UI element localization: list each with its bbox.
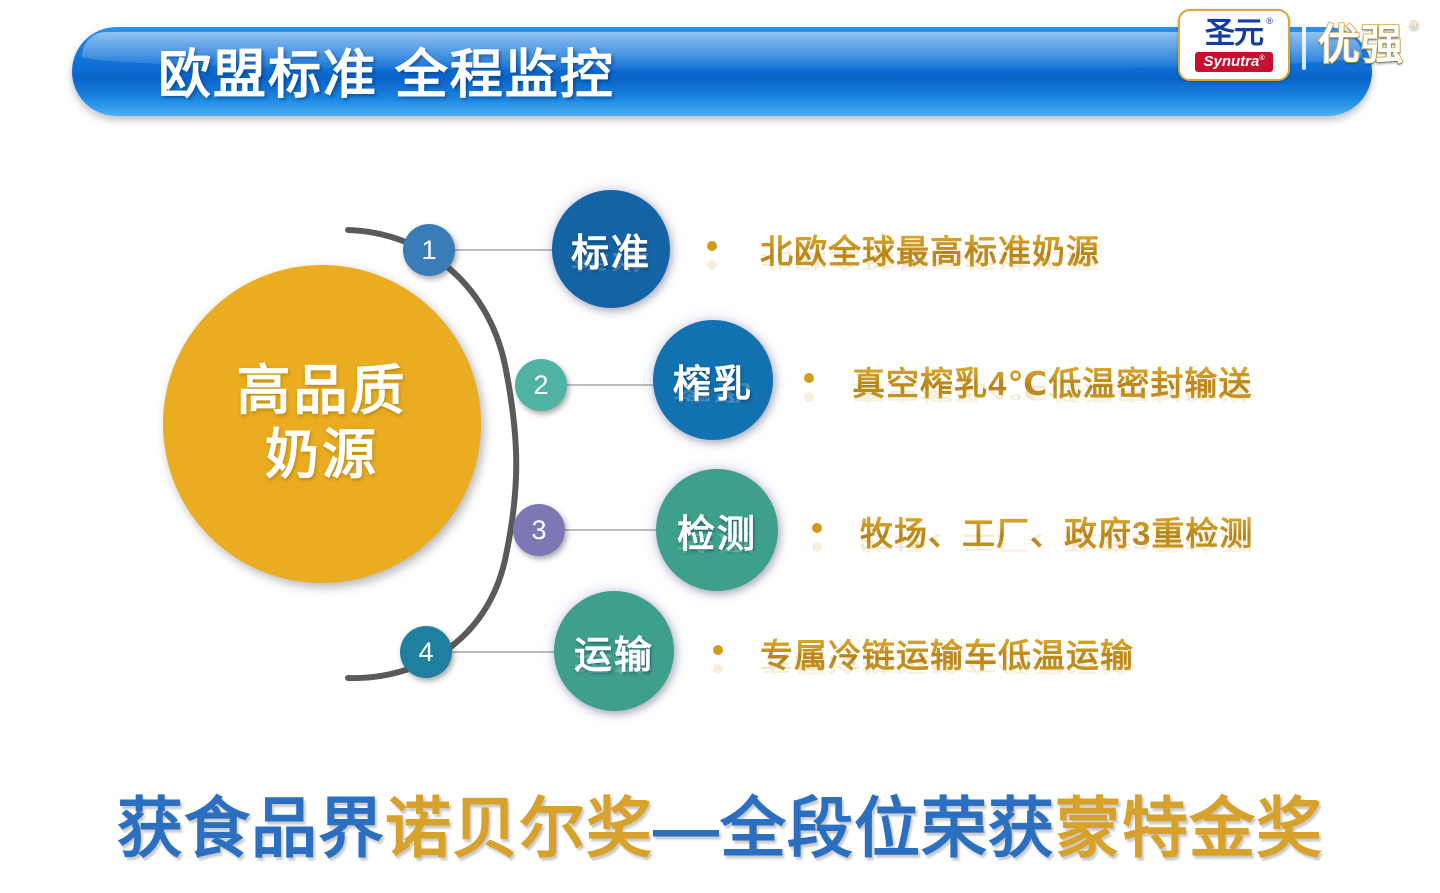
step-number-2[interactable]: 2: [515, 359, 567, 411]
step-description-1: 北欧全球最高标准奶源: [760, 225, 1100, 273]
stage-label-transport: 运输: [574, 624, 654, 679]
stage-label-milking: 榨乳: [673, 353, 753, 408]
step-number-1-label: 1: [421, 235, 436, 266]
stage-label-standard: 标准: [571, 222, 651, 277]
hub-circle: 高品质 奶源: [163, 265, 481, 583]
bullet-dot-1: [707, 241, 717, 251]
stage-circle-testing[interactable]: 检测: [656, 469, 778, 591]
bullet-dot-3: [812, 523, 822, 533]
registered-mark-icon: ®: [1259, 55, 1264, 62]
step-number-4[interactable]: 4: [400, 626, 452, 678]
logo-brand-cn: 圣元®: [1205, 19, 1263, 49]
logo-brand-en: Synutra®: [1195, 52, 1272, 72]
logo-brand-en-text: Synutra: [1203, 53, 1259, 70]
logo-sub-brand: 优强®: [1318, 24, 1404, 66]
process-diagram: 高品质 奶源 1 标准 北欧全球最高标准奶源 北欧全球最高标准奶源 2 榨乳 真…: [0, 140, 1440, 760]
brand-logo: 圣元® Synutra® 优强®: [1178, 8, 1404, 82]
footer-part-1: 获食品界: [117, 791, 385, 865]
stage-circle-milking[interactable]: 榨乳: [653, 320, 773, 440]
step-description-2: 真空榨乳4℃低温密封输送: [852, 357, 1252, 405]
bullet-dot-2: [804, 373, 814, 383]
footer-part-3: —全段位荣获: [653, 791, 1055, 865]
step-number-3-label: 3: [531, 515, 546, 546]
step-number-4-label: 4: [418, 637, 433, 668]
logo-divider: [1302, 20, 1306, 70]
step-number-1[interactable]: 1: [403, 224, 455, 276]
footer-award-line: 获食品界诺贝尔奖—全段位荣获蒙特金奖: [0, 775, 1440, 871]
stage-circle-standard[interactable]: 标准: [552, 190, 670, 308]
hub-label-line2: 奶源: [265, 424, 379, 488]
registered-mark-icon: ®: [1409, 18, 1420, 31]
logo-badge-synutra: 圣元® Synutra®: [1178, 9, 1290, 81]
registered-mark-icon: ®: [1266, 17, 1272, 26]
step-description-3: 牧场、工厂、政府3重检测: [860, 507, 1253, 555]
footer-part-2: 诺贝尔奖: [385, 791, 653, 865]
page-title: 欧盟标准 全程监控: [158, 32, 615, 108]
stage-label-testing: 检测: [677, 503, 757, 558]
stage-circle-transport[interactable]: 运输: [554, 591, 674, 711]
step-number-2-label: 2: [533, 370, 548, 401]
logo-sub-brand-text: 优强: [1318, 21, 1404, 68]
hub-label-line1: 高品质: [237, 360, 408, 424]
footer-part-4: 蒙特金奖: [1055, 791, 1323, 865]
logo-brand-cn-text: 圣元: [1205, 17, 1263, 50]
step-number-3[interactable]: 3: [513, 504, 565, 556]
step-description-4: 专属冷链运输车低温运输: [760, 629, 1134, 677]
bullet-dot-4: [713, 645, 723, 655]
slide-canvas: 欧盟标准 全程监控 圣元® Synutra® 优强® 高品质 奶源 1: [0, 0, 1440, 893]
